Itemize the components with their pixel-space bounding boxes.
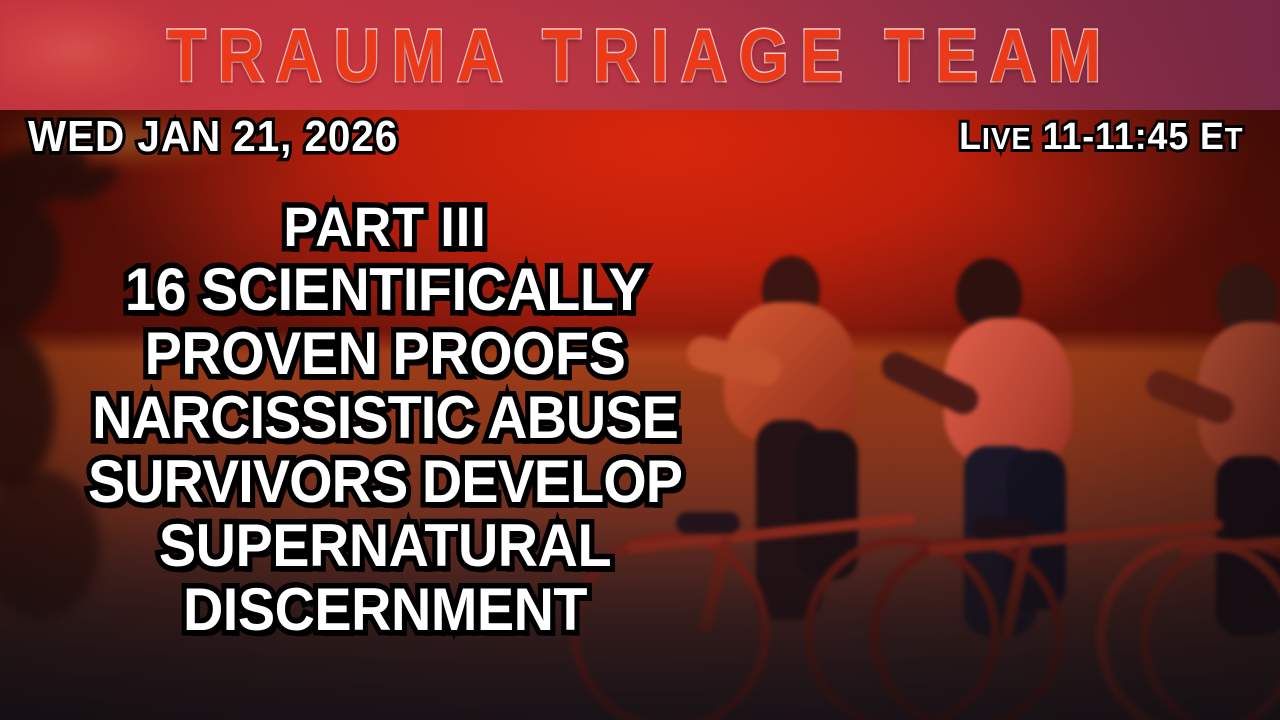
live-label-cap: L <box>960 116 983 158</box>
live-time: 11-11:45 E <box>1032 116 1225 158</box>
headline-line-3: NARCISSISTIC ABUSE <box>27 386 743 450</box>
headline-part-number: PART III <box>27 196 743 258</box>
headline-line-1: 16 SCIENTIFICALLY <box>27 258 743 322</box>
headline-block: PART III 16 SCIENTIFICALLY PROVEN PROOFS… <box>0 196 770 642</box>
headline-line-6: DISCERNMENT <box>27 578 743 642</box>
schedule-row: WED JAN 21, 2026 LIVE 11-11:45 ET <box>0 112 1280 174</box>
broadcast-date: WED JAN 21, 2026 <box>28 112 398 162</box>
live-timezone: T <box>1225 121 1244 156</box>
brand-band: TRAUMA TRIAGE TEAM <box>0 0 1280 110</box>
headline-line-2: PROVEN PROOFS <box>27 322 743 386</box>
brand-title: TRAUMA TRIAGE TEAM <box>90 0 1191 110</box>
live-time-badge: LIVE 11-11:45 ET <box>960 116 1244 159</box>
video-thumbnail: TRAUMA TRIAGE TEAM WED JAN 21, 2026 LIVE… <box>0 0 1280 720</box>
headline-line-4: SURVIVORS DEVELOP <box>27 450 743 514</box>
live-label-rest: IVE <box>982 121 1032 156</box>
headline-line-5: SUPERNATURAL <box>27 514 743 578</box>
